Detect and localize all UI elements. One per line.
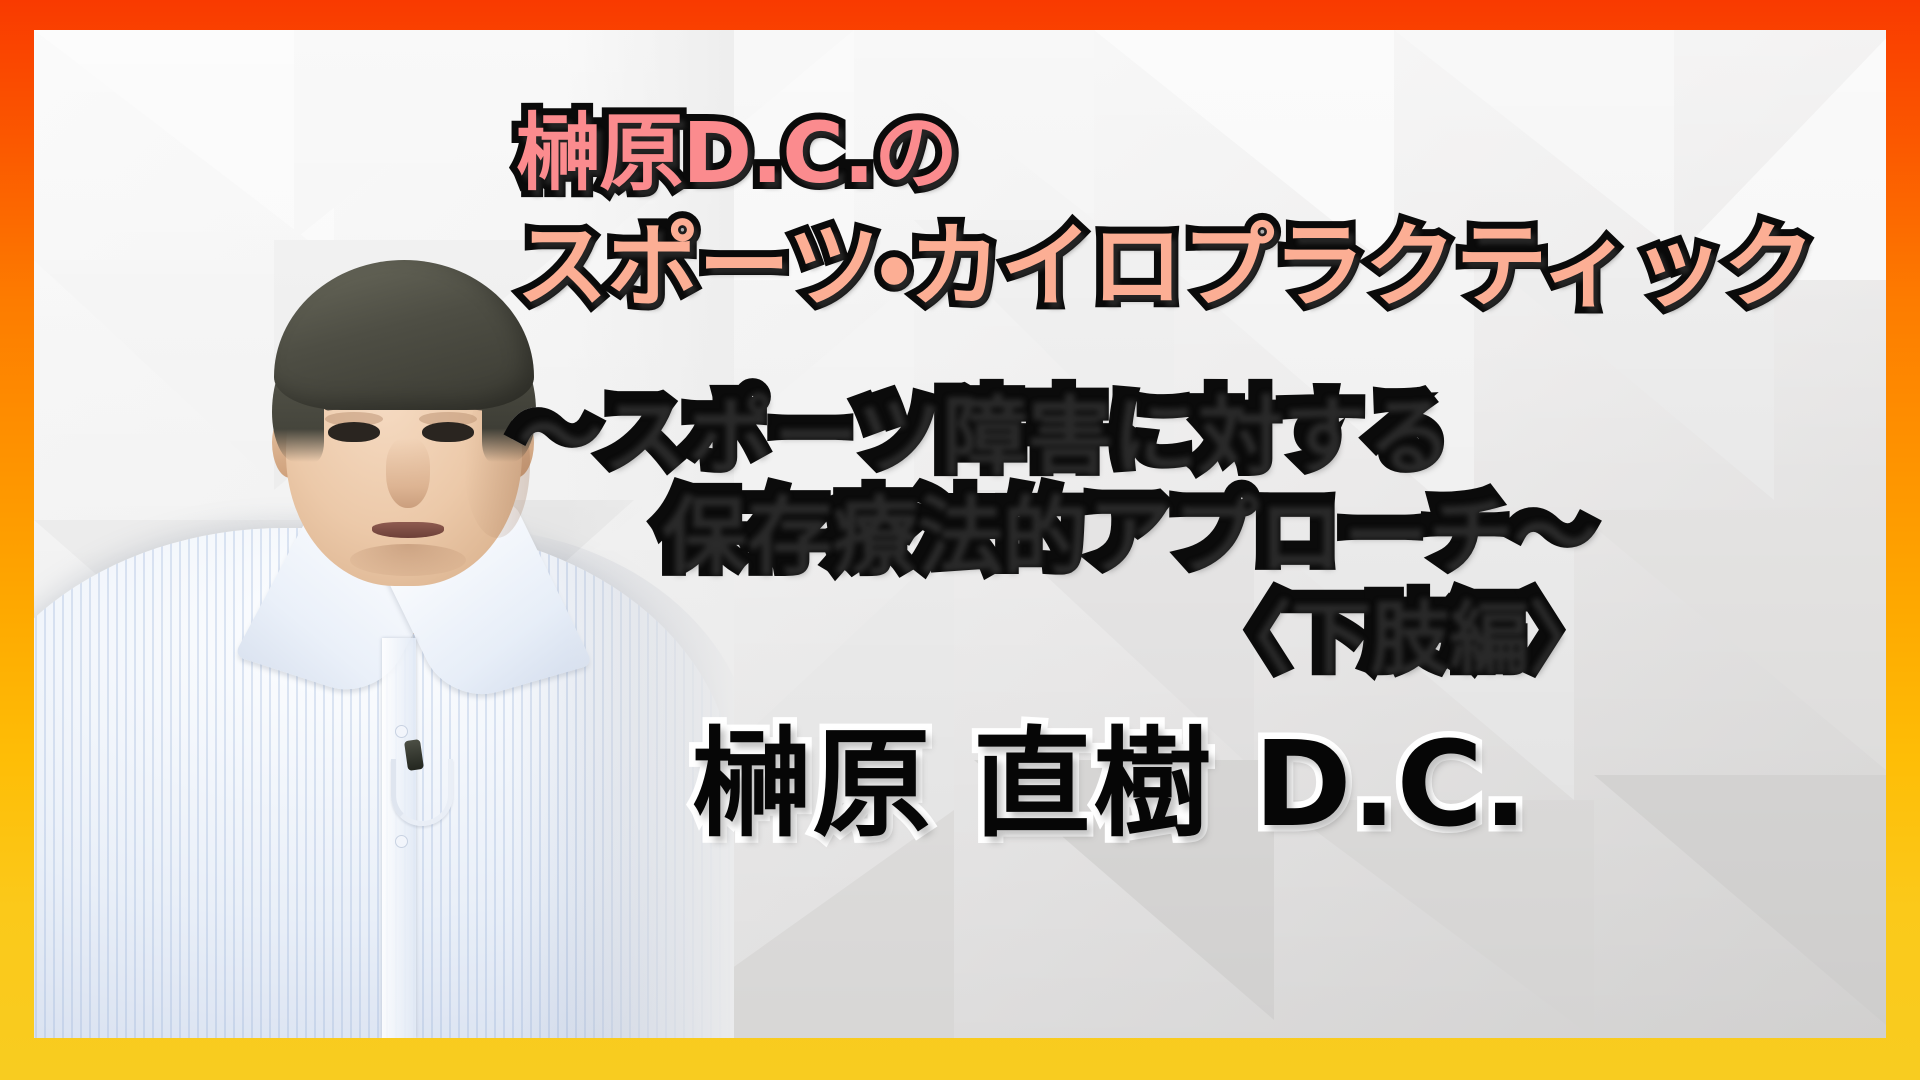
headline-line-2: スポーツ・カイロプラクティック	[516, 192, 1814, 325]
shirt-button	[395, 725, 408, 738]
headline-line-1: 榊原D.C.の	[516, 86, 957, 207]
chin-shadow	[350, 544, 466, 576]
eye-left	[328, 422, 380, 442]
card-stage: 榊原D.C.の スポーツ・カイロプラクティック 〜スポーツ障害に対する 保存療法…	[34, 30, 1886, 1038]
nose	[386, 438, 430, 508]
subtitle-line-2-text: 保存療法的アプローチ〜	[656, 481, 1593, 581]
subtitle-line-2: 保存療法的アプローチ〜	[656, 460, 1593, 585]
subtitle-line-3-text: 〈下肢編〉	[1206, 586, 1602, 679]
presenter-family-name: 榊原	[692, 715, 933, 853]
presenter-credential: D.C.	[1254, 715, 1528, 853]
title-card: 榊原D.C.の スポーツ・カイロプラクティック 〜スポーツ障害に対する 保存療法…	[0, 0, 1920, 1080]
presenter-name-line: 榊原直樹D.C.	[692, 688, 1528, 859]
title-text-block: 榊原D.C.の スポーツ・カイロプラクティック 〜スポーツ障害に対する 保存療法…	[464, 30, 1886, 1038]
subtitle-line-3: 〈下肢編〉	[1206, 568, 1602, 684]
microphone-wire	[391, 759, 453, 826]
mouth	[372, 522, 444, 538]
shirt-button	[395, 835, 408, 848]
presenter-given-name: 直樹	[973, 715, 1214, 853]
